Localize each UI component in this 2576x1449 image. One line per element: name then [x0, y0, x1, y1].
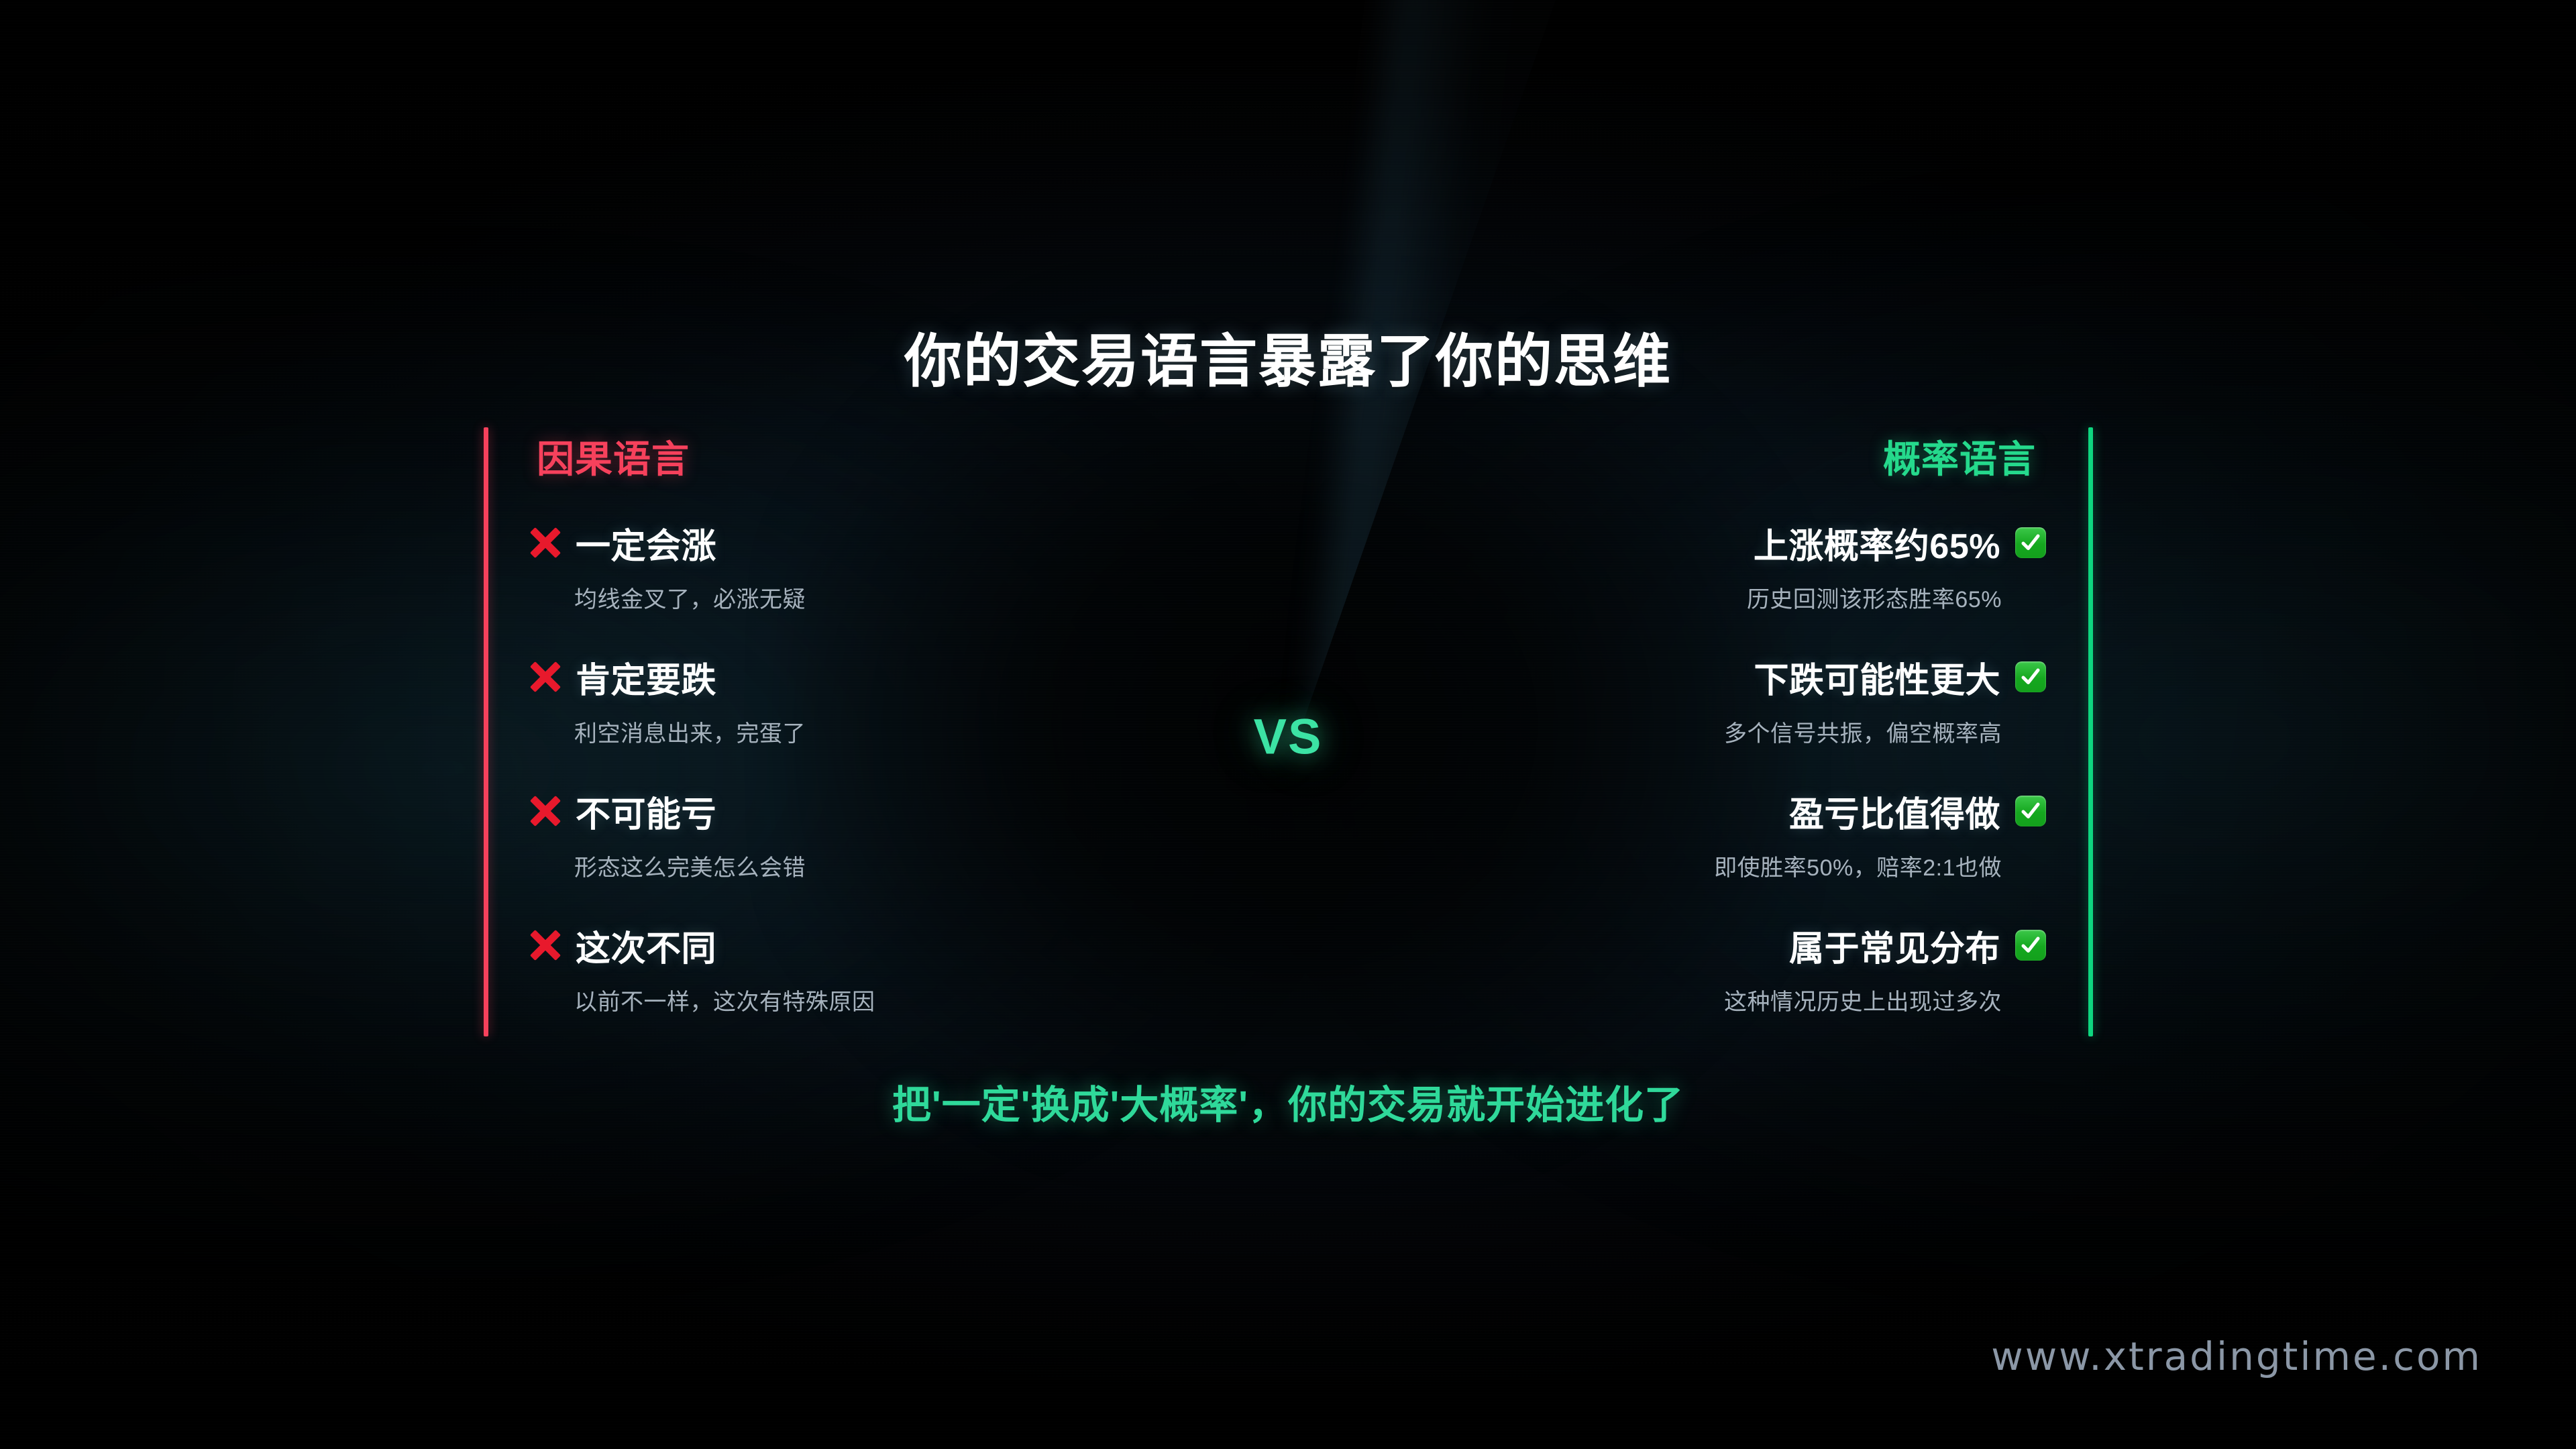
- slide-canvas: 你的交易语言暴露了你的思维 因果语言 概率语言 一定会涨 均线金叉了，必涨无疑 …: [0, 0, 2576, 1449]
- list-item: 不可能亏 形态这么完美怎么会错: [530, 785, 1134, 919]
- list-item-subtitle: 即使胜率50%，赔率2:1也做: [1442, 849, 2046, 882]
- list-item-subtitle: 这种情况历史上出现过多次: [1442, 983, 2046, 1016]
- list-item: 上涨概率约65% 历史回测该形态胜率65%: [1442, 517, 2046, 651]
- list-item-title: 一定会涨: [576, 518, 716, 568]
- tagline: 把'一定'换成'大概率'，你的交易就开始进化了: [0, 1073, 2576, 1130]
- x-mark-icon: [530, 796, 561, 826]
- list-item-heading: 不可能亏: [530, 785, 1134, 837]
- list-item-title: 下跌可能性更大: [1754, 652, 2000, 702]
- page-title: 你的交易语言暴露了你的思维: [0, 314, 2576, 398]
- list-item-heading: 上涨概率约65%: [1442, 517, 2046, 569]
- list-item-heading: 属于常见分布: [1442, 919, 2046, 971]
- list-item-heading: 这次不同: [530, 919, 1134, 971]
- list-item-heading: 下跌可能性更大: [1442, 651, 2046, 703]
- list-item-title: 盈亏比值得做: [1789, 786, 2000, 837]
- list-item: 属于常见分布 这种情况历史上出现过多次: [1442, 919, 2046, 1016]
- green-check-icon: [2015, 930, 2046, 961]
- list-item-subtitle: 形态这么完美怎么会错: [530, 849, 1134, 882]
- list-item-title: 属于常见分布: [1789, 920, 2000, 971]
- list-item-subtitle: 多个信号共振，偏空概率高: [1442, 715, 2046, 748]
- green-check-icon: [2015, 661, 2046, 692]
- list-item: 肯定要跌 利空消息出来，完蛋了: [530, 651, 1134, 785]
- divider-line-right: [2088, 427, 2093, 1036]
- x-mark-icon: [530, 661, 561, 692]
- list-item-heading: 盈亏比值得做: [1442, 785, 2046, 837]
- x-mark-icon: [530, 527, 561, 558]
- list-item-heading: 肯定要跌: [530, 651, 1134, 703]
- list-item-subtitle: 以前不一样，这次有特殊原因: [530, 983, 1134, 1016]
- list-item-subtitle: 利空消息出来，完蛋了: [530, 715, 1134, 748]
- list-item-subtitle: 均线金叉了，必涨无疑: [530, 581, 1134, 614]
- x-mark-icon: [530, 930, 561, 961]
- list-item-title: 不可能亏: [576, 786, 716, 837]
- list-item: 一定会涨 均线金叉了，必涨无疑: [530, 517, 1134, 651]
- column-header-probability: 概率语言: [1883, 429, 2036, 484]
- green-check-icon: [2015, 796, 2046, 826]
- list-item: 下跌可能性更大 多个信号共振，偏空概率高: [1442, 651, 2046, 785]
- causal-language-list: 一定会涨 均线金叉了，必涨无疑 肯定要跌 利空消息出来，完蛋了 不可能亏 形态这…: [530, 517, 1134, 1016]
- list-item-heading: 一定会涨: [530, 517, 1134, 569]
- watermark-url: www.xtradingtime.com: [1991, 1334, 2482, 1379]
- list-item-title: 上涨概率约65%: [1754, 518, 2000, 568]
- green-check-icon: [2015, 527, 2046, 558]
- divider-line-left: [484, 427, 488, 1036]
- list-item: 盈亏比值得做 即使胜率50%，赔率2:1也做: [1442, 785, 2046, 919]
- list-item-title: 肯定要跌: [576, 652, 716, 702]
- column-header-causal: 因果语言: [537, 429, 690, 484]
- probability-language-list: 上涨概率约65% 历史回测该形态胜率65% 下跌可能性更大 多个信号共振，偏空概…: [1442, 517, 2046, 1016]
- list-item-subtitle: 历史回测该形态胜率65%: [1442, 581, 2046, 614]
- list-item: 这次不同 以前不一样，这次有特殊原因: [530, 919, 1134, 1016]
- vs-label: VS: [1254, 708, 1323, 765]
- list-item-title: 这次不同: [576, 920, 716, 971]
